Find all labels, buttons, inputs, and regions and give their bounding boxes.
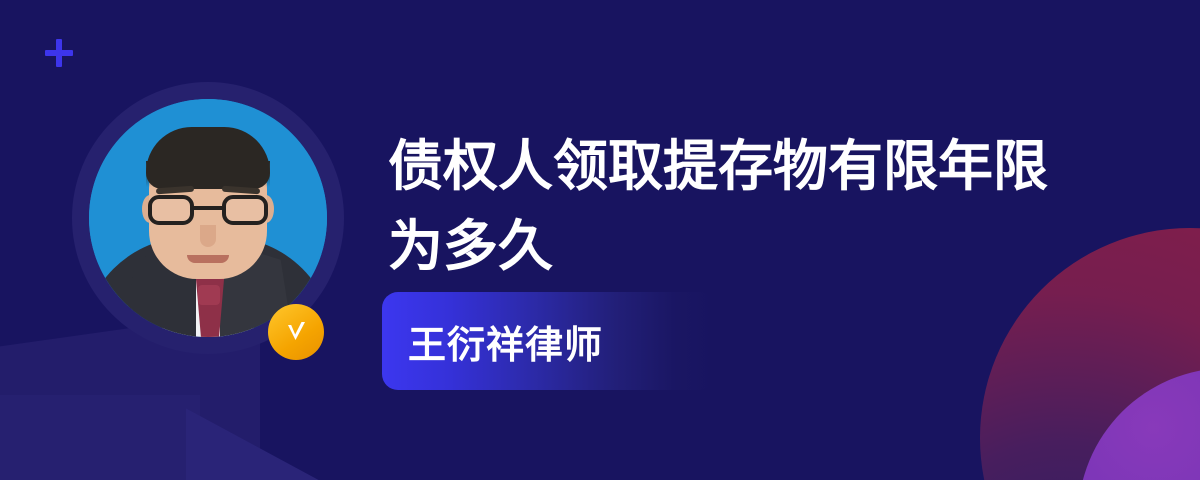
plus-icon <box>45 39 73 67</box>
lawyer-topic-banner: 债权人领取提存物有限年限为多久 王衍祥律师 <box>0 0 1200 480</box>
lawyer-name-badge[interactable]: 王衍祥律师 <box>382 292 716 390</box>
verified-badge-icon <box>268 304 324 360</box>
polygon-shape-left-lower <box>0 395 200 480</box>
avatar[interactable] <box>72 82 344 354</box>
avatar-photo <box>89 99 327 337</box>
lawyer-name-label: 王衍祥律师 <box>382 314 603 369</box>
page-title: 债权人领取提存物有限年限为多久 <box>388 126 1078 286</box>
